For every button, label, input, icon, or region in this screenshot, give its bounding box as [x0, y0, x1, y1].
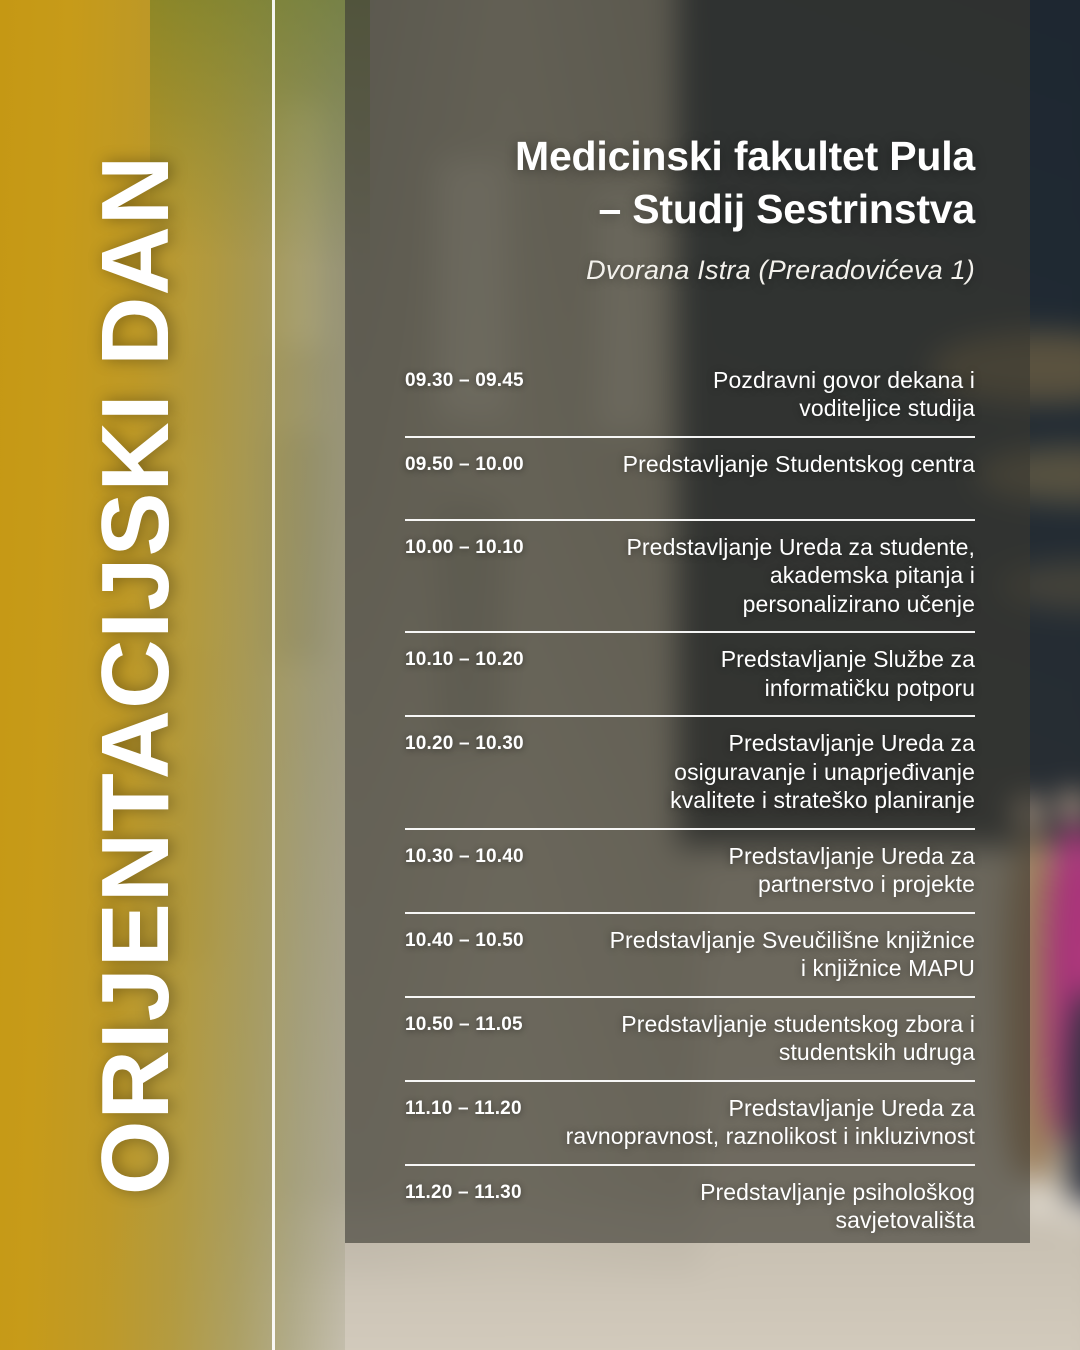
schedule-time: 10.30 – 10.40: [405, 842, 565, 870]
page-title-line-2: – Studij Sestrinstva: [405, 183, 975, 236]
table-row: 11.10 – 11.20 Predstavljanje Ureda za ra…: [405, 1080, 975, 1164]
vertical-divider-rule: [272, 0, 275, 1350]
schedule-description-line: Predstavljanje Sveučilišne knjižnice: [565, 926, 975, 955]
schedule-description-line: Predstavljanje Službe za: [565, 645, 975, 674]
schedule-table: 09.30 – 09.45 Pozdravni govor dekana i v…: [405, 354, 975, 1248]
table-row: 10.20 – 10.30 Predstavljanje Ureda za os…: [405, 715, 975, 828]
content-panel: Medicinski fakultet Pula – Studij Sestri…: [345, 0, 1030, 1243]
schedule-time: 09.50 – 10.00: [405, 450, 565, 478]
table-row: 10.40 – 10.50 Predstavljanje Sveučilišne…: [405, 912, 975, 996]
schedule-description-line: akademska pitanja i: [565, 561, 975, 590]
schedule-description: Predstavljanje Ureda za osiguravanje i u…: [565, 729, 975, 815]
table-row: 10.50 – 11.05 Predstavljanje studentskog…: [405, 996, 975, 1080]
schedule-time: 09.30 – 09.45: [405, 366, 565, 394]
table-row: 09.30 – 09.45 Pozdravni govor dekana i v…: [405, 354, 975, 436]
schedule-description: Predstavljanje Studentskog centra: [565, 450, 975, 479]
schedule-description: Predstavljanje Ureda za partnerstvo i pr…: [565, 842, 975, 899]
schedule-description-line: Predstavljanje Ureda za: [565, 729, 975, 758]
table-row: 10.30 – 10.40 Predstavljanje Ureda za pa…: [405, 828, 975, 912]
schedule-description: Predstavljanje studentskog zbora i stude…: [565, 1010, 975, 1067]
schedule-time: 10.50 – 11.05: [405, 1010, 565, 1038]
table-row: 10.10 – 10.20 Predstavljanje Službe za i…: [405, 631, 975, 715]
schedule-description-line: Predstavljanje psihološkog savjetovališt…: [565, 1178, 975, 1235]
page-title: Medicinski fakultet Pula – Studij Sestri…: [405, 0, 975, 237]
schedule-description: Predstavljanje Sveučilišne knjižnice i k…: [565, 926, 975, 983]
schedule-time: 10.20 – 10.30: [405, 729, 565, 757]
schedule-description-line: Predstavljanje Studentskog centra: [565, 450, 975, 479]
schedule-time: 10.40 – 10.50: [405, 926, 565, 954]
side-banner: ORIJENTACIJSKI DAN: [0, 0, 272, 1350]
table-row: 09.50 – 10.00 Predstavljanje Studentskog…: [405, 436, 975, 519]
photo-person-head: [1060, 792, 1080, 819]
schedule-description-line: i knjižnice MAPU: [565, 954, 975, 983]
page-title-line-1: Medicinski fakultet Pula: [405, 130, 975, 183]
schedule-description: Pozdravni govor dekana i voditeljice stu…: [565, 366, 975, 423]
schedule-time: 10.00 – 10.10: [405, 533, 565, 561]
venue-subtitle: Dvorana Istra (Preradovićeva 1): [405, 255, 975, 286]
schedule-description-line: Predstavljanje studentskog zbora i: [565, 1010, 975, 1039]
schedule-description: Predstavljanje psihološkog savjetovališt…: [565, 1178, 975, 1235]
orientation-day-poster: ORIJENTACIJSKI DAN Medicinski fakultet P…: [0, 0, 1080, 1350]
photo-shoe: [1064, 1202, 1080, 1222]
schedule-description-line: voditeljice studija: [565, 394, 975, 423]
schedule-description-line: osiguravanje i unaprjeđivanje: [565, 758, 975, 787]
schedule-description-line: personalizirano učenje: [565, 590, 975, 619]
schedule-description-line: Predstavljanje Ureda za studente,: [565, 533, 975, 562]
schedule-description-line: studentskih udruga: [565, 1038, 975, 1067]
schedule-description-line: Pozdravni govor dekana i: [565, 366, 975, 395]
schedule-description-line: ravnopravnost, raznolikost i inkluzivnos…: [565, 1122, 975, 1151]
schedule-description-line: Predstavljanje Ureda za: [565, 1094, 975, 1123]
table-row: 10.00 – 10.10 Predstavljanje Ureda za st…: [405, 519, 975, 632]
schedule-description: Predstavljanje Službe za informatičku po…: [565, 645, 975, 702]
table-row: 11.20 – 11.30 Predstavljanje psihološkog…: [405, 1164, 975, 1248]
schedule-time: 11.10 – 11.20: [405, 1094, 565, 1122]
schedule-description-line: kvalitete i strateško planiranje: [565, 786, 975, 815]
schedule-description-line: partnerstvo i projekte: [565, 870, 975, 899]
schedule-time: 11.20 – 11.30: [405, 1178, 565, 1206]
schedule-description-line: Predstavljanje Ureda za: [565, 842, 975, 871]
schedule-description: Predstavljanje Ureda za ravnopravnost, r…: [565, 1094, 975, 1151]
schedule-description-line: informatičku potporu: [565, 674, 975, 703]
schedule-description: Predstavljanje Ureda za studente, akadem…: [565, 533, 975, 619]
content-panel-inner: Medicinski fakultet Pula – Studij Sestri…: [345, 0, 1030, 1243]
schedule-time: 10.10 – 10.20: [405, 645, 565, 673]
side-banner-text: ORIJENTACIJSKI DAN: [88, 155, 184, 1195]
